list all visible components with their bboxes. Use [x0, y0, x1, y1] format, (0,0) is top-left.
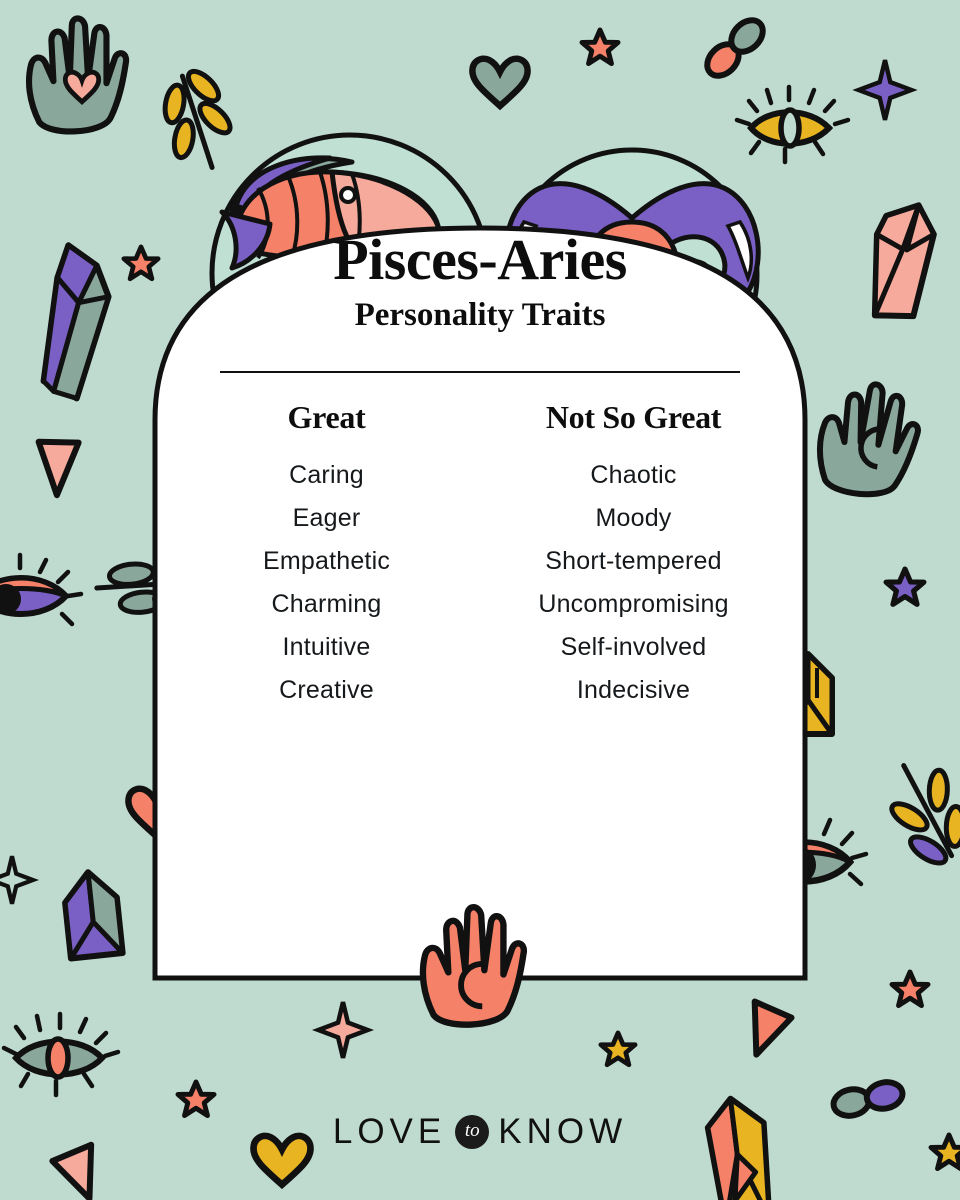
- trait-item: Self-involved: [480, 626, 787, 669]
- trait-item: Caring: [173, 454, 480, 497]
- trait-item: Moody: [480, 497, 787, 540]
- trait-item: Uncompromising: [480, 583, 787, 626]
- trait-item: Indecisive: [480, 669, 787, 712]
- column-heading-not-so-great: Not So Great: [480, 399, 787, 436]
- page-title: Pisces-Aries: [155, 230, 805, 291]
- title-divider: [220, 371, 740, 373]
- brand-logo: LOVE to KNOW: [0, 1112, 960, 1152]
- infographic-canvas: Pisces-Aries Personality Traits Great Ca…: [0, 0, 960, 1200]
- logo-word-love: LOVE: [333, 1112, 446, 1152]
- page-subtitle: Personality Traits: [155, 297, 805, 333]
- logo-word-know: KNOW: [498, 1112, 627, 1152]
- traits-column-great: Great Caring Eager Empathetic Charming I…: [173, 399, 480, 712]
- trait-item: Short-tempered: [480, 540, 787, 583]
- trait-item: Intuitive: [173, 626, 480, 669]
- traits-columns: Great Caring Eager Empathetic Charming I…: [155, 399, 805, 712]
- traits-column-not-so-great: Not So Great Chaotic Moody Short-tempere…: [480, 399, 787, 712]
- trait-item: Creative: [173, 669, 480, 712]
- column-heading-great: Great: [173, 399, 480, 436]
- trait-item: Eager: [173, 497, 480, 540]
- logo-badge-to: to: [455, 1115, 489, 1149]
- trait-item: Charming: [173, 583, 480, 626]
- trait-item: Chaotic: [480, 454, 787, 497]
- card-content: Pisces-Aries Personality Traits Great Ca…: [155, 230, 805, 712]
- trait-item: Empathetic: [173, 540, 480, 583]
